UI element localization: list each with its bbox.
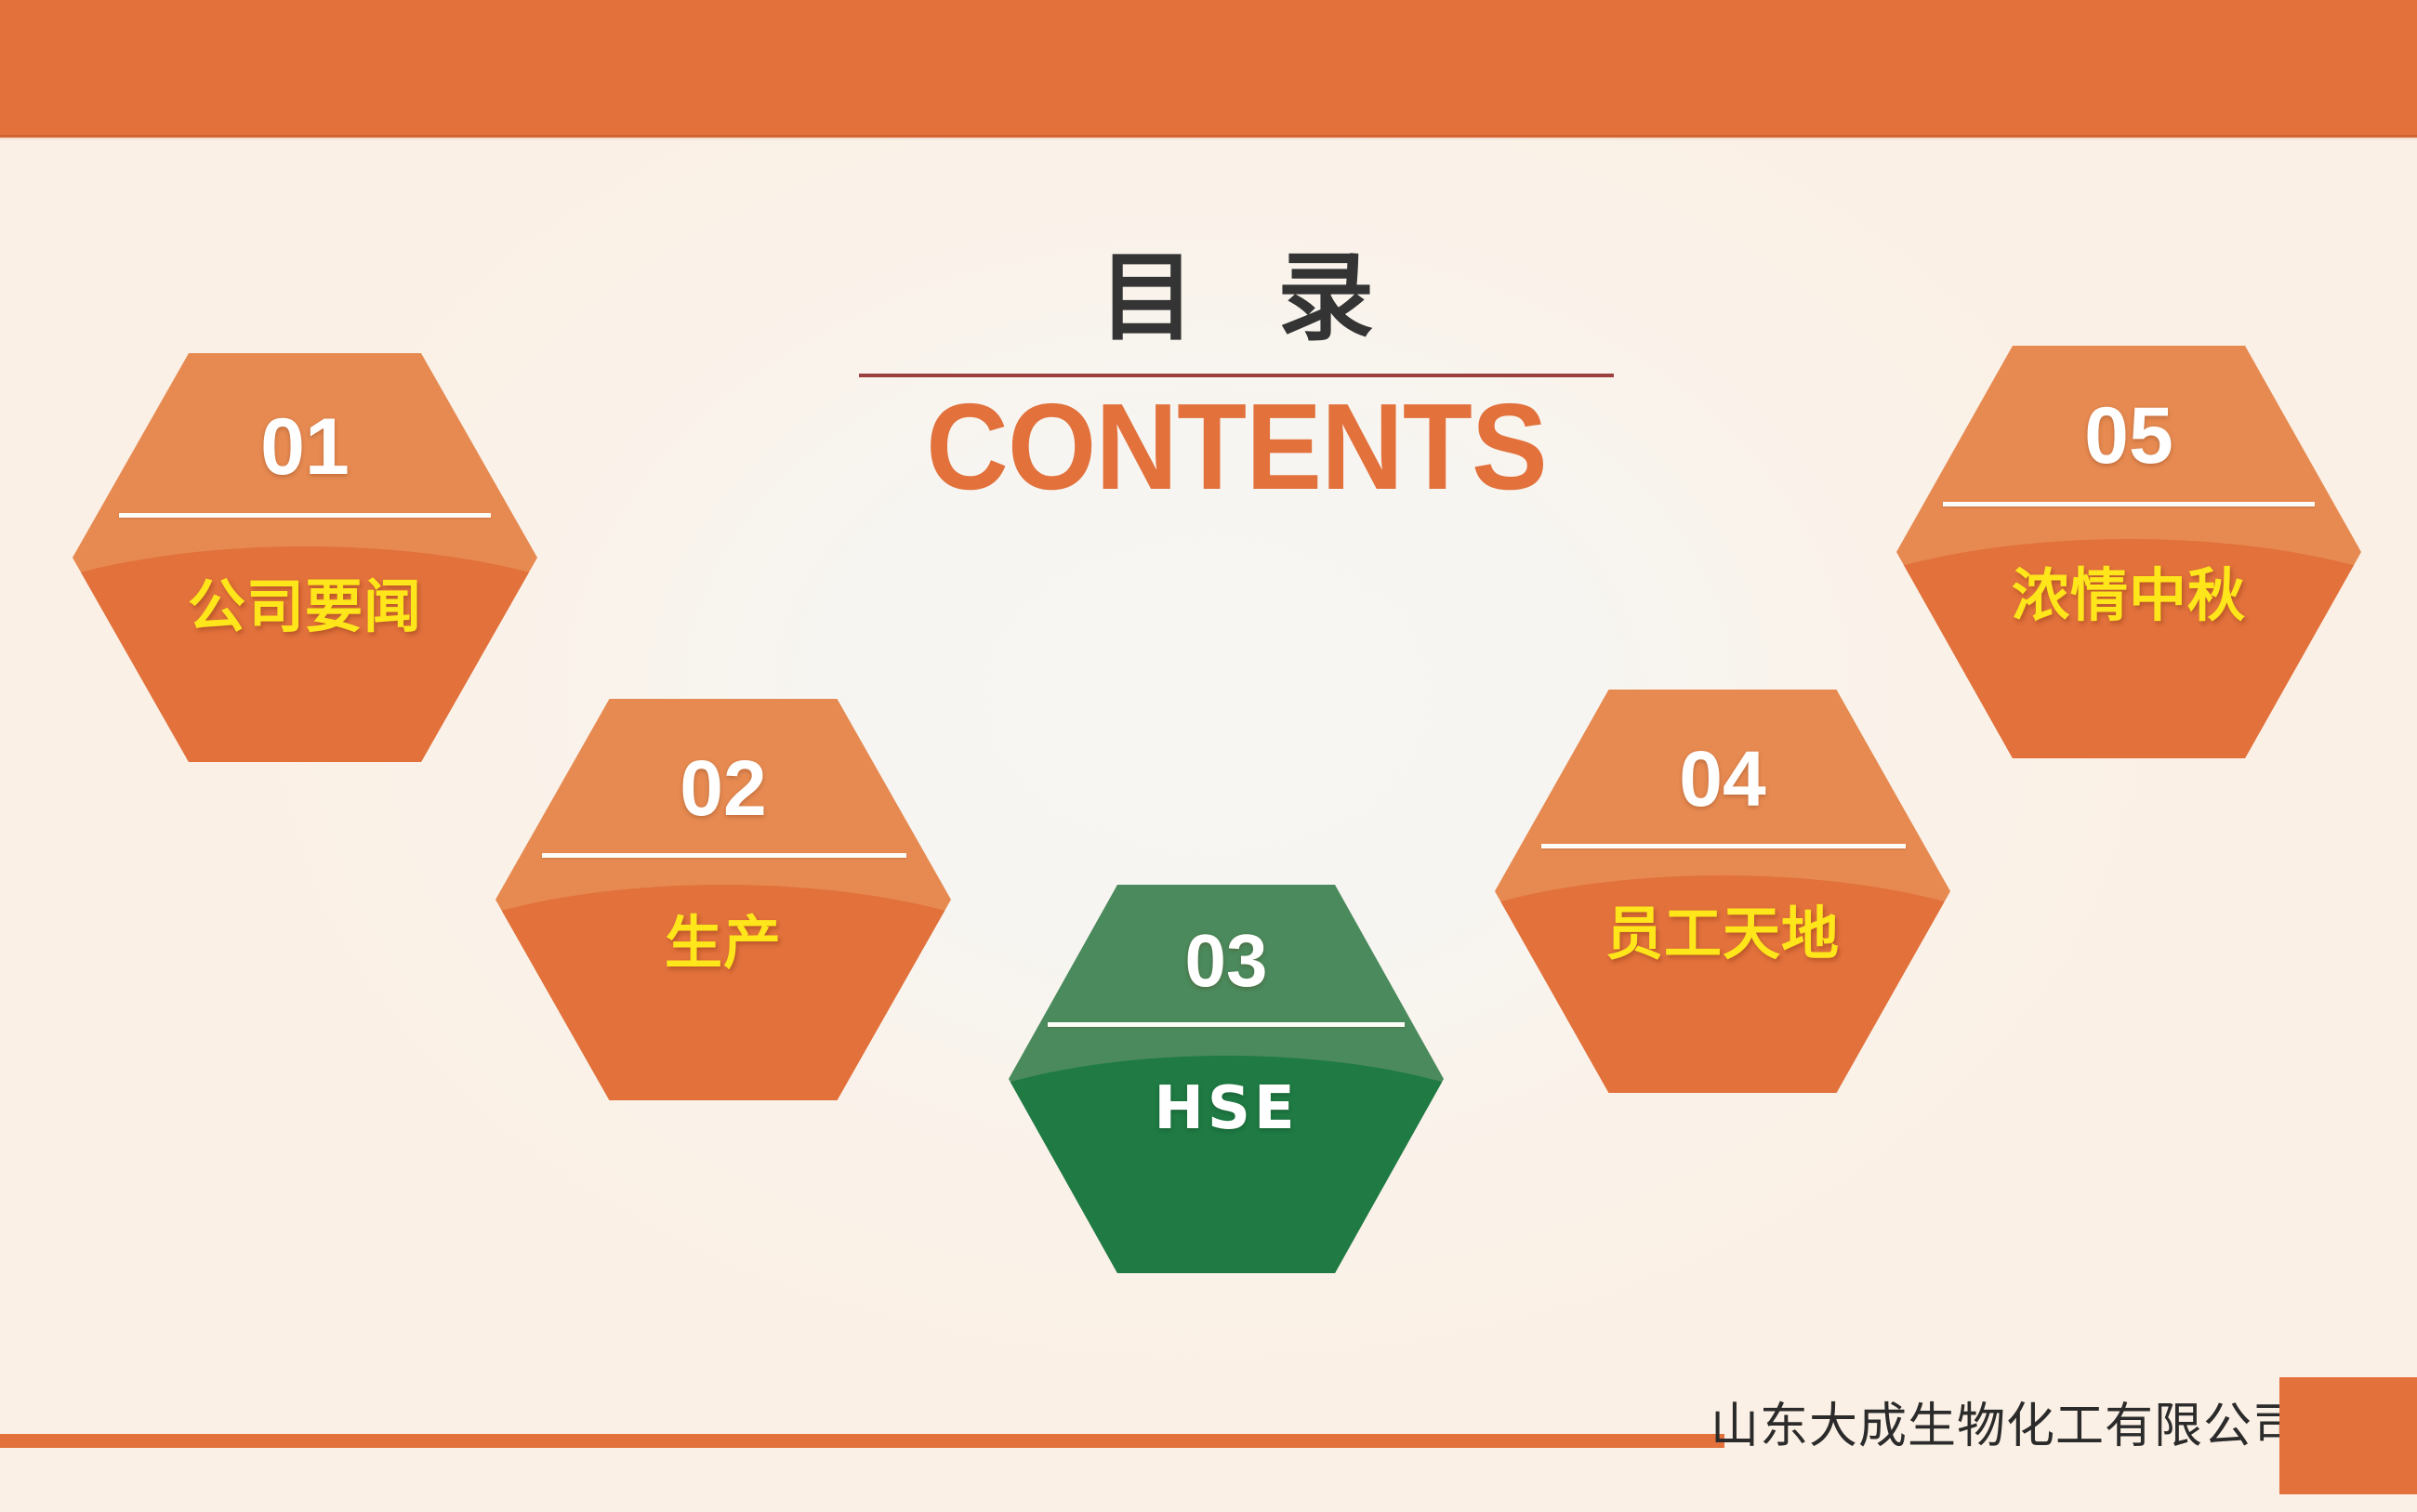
hex-content-03: 03 HSE <box>1009 885 1444 1273</box>
hex-divider-04 <box>1541 844 1906 848</box>
hex-content-04: 04 员工天地 <box>1495 690 1950 1093</box>
toc-item-05[interactable]: 05 浓情中秋 <box>1896 346 2361 758</box>
hex-content-05: 05 浓情中秋 <box>1896 346 2361 758</box>
footer-rule <box>0 1434 1724 1448</box>
footer-accent-block <box>2279 1377 2417 1494</box>
title-divider-rule <box>859 374 1614 377</box>
hex-divider-01 <box>119 513 491 518</box>
hex-divider-02 <box>542 853 906 858</box>
page-title-english: CONTENTS <box>865 383 1608 510</box>
top-orange-bar <box>0 0 2417 138</box>
toc-item-01[interactable]: 01 公司要闻 <box>73 353 537 762</box>
toc-number-01: 01 <box>73 401 537 493</box>
toc-item-02[interactable]: 02 生产 <box>495 699 951 1100</box>
title-block: 目 录 CONTENTS <box>837 249 1636 510</box>
toc-number-02: 02 <box>495 743 951 834</box>
page-title-chinese: 目 录 <box>837 249 1636 346</box>
hex-divider-05 <box>1943 502 2315 506</box>
hex-content-01: 01 公司要闻 <box>73 353 537 762</box>
toc-number-05: 05 <box>1896 390 2361 482</box>
toc-item-04[interactable]: 04 员工天地 <box>1495 690 1950 1093</box>
toc-label-03: HSE <box>1009 1074 1444 1143</box>
hex-divider-03 <box>1048 1022 1405 1027</box>
toc-label-01: 公司要闻 <box>73 559 537 643</box>
toc-number-03: 03 <box>1009 918 1444 1004</box>
toc-label-04: 员工天地 <box>1495 887 1950 970</box>
slide-root: 目 录 CONTENTS 01 公司要闻 02 生产 03 HSE <box>0 0 2417 1512</box>
toc-item-03[interactable]: 03 HSE <box>1009 885 1444 1273</box>
footer-company-name: 山东大成生物化工有限公司 <box>1710 1387 2302 1456</box>
hex-content-02: 02 生产 <box>495 699 951 1100</box>
toc-number-04: 04 <box>1495 734 1950 824</box>
toc-label-02: 生产 <box>495 896 951 980</box>
toc-label-05: 浓情中秋 <box>1896 548 2361 632</box>
top-bar-shadow <box>0 135 2417 140</box>
